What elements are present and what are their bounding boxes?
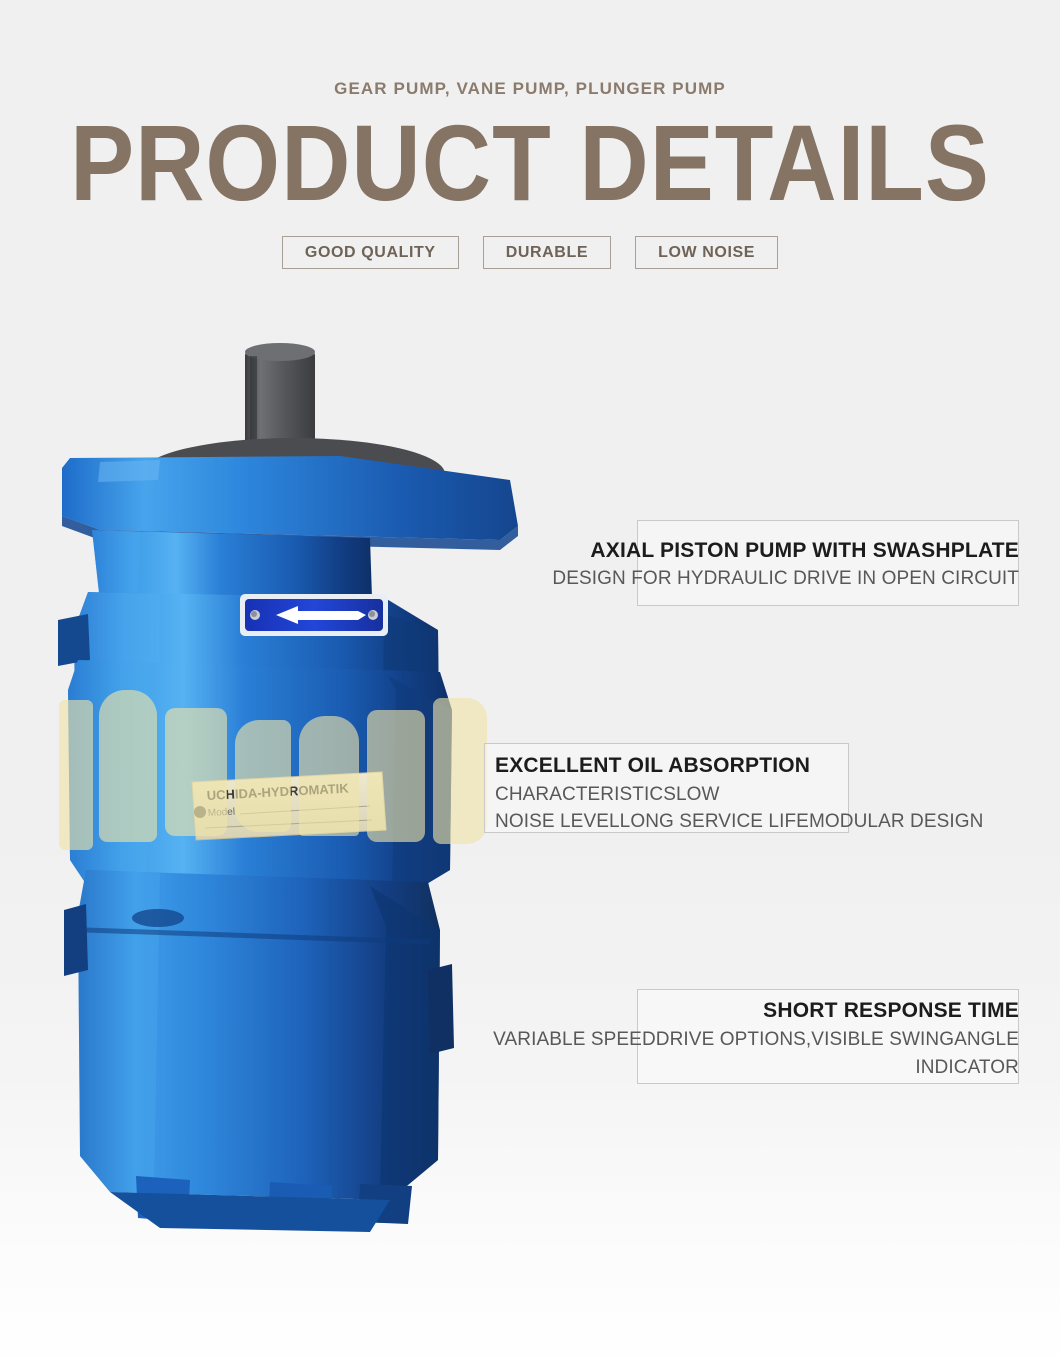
nameplate-model-label: Model [208, 807, 236, 819]
callout-1-text: AXIAL PISTON PUMP WITH SWASHPLATE DESIGN… [540, 537, 1030, 593]
callout-2-line-1: CHARACTERISTICSLOW [495, 781, 1004, 808]
callout-3-line-2: INDICATOR [480, 1054, 1019, 1082]
page-subtitle: GEAR PUMP, VANE PUMP, PLUNGER PUMP [0, 79, 1060, 99]
badge-durable: DURABLE [483, 236, 611, 269]
badge-row: GOOD QUALITY DURABLE LOW NOISE [0, 236, 1060, 269]
callout-2-heading: EXCELLENT OIL ABSORPTION [495, 751, 1004, 781]
product-photo: UCHIDA-HYDROMATIK Model [40, 330, 560, 1260]
pump-lower-body [64, 870, 454, 1200]
flow-direction-plate [240, 594, 388, 636]
callout-3-line-1: VARIABLE SPEEDDRIVE OPTIONS,VISIBLE SWIN… [480, 1026, 1019, 1054]
product-details-page: GEAR PUMP, VANE PUMP, PLUNGER PUMP PRODU… [0, 0, 1060, 1369]
callout-excellent-oil-absorption: EXCELLENT OIL ABSORPTION CHARACTERISTICS… [484, 740, 1004, 845]
callout-1-line-1: DESIGN FOR HYDRAULIC DRIVE IN OPEN CIRCU… [540, 565, 1019, 593]
product-nameplate: UCHIDA-HYDROMATIK Model [192, 772, 386, 840]
callout-axial-piston-pump: AXIAL PISTON PUMP WITH SWASHPLATE DESIGN… [540, 515, 1030, 615]
callout-3-text: SHORT RESPONSE TIME VARIABLE SPEEDDRIVE … [480, 996, 1030, 1082]
page-title: PRODUCT DETAILS [0, 108, 1060, 220]
callout-3-heading: SHORT RESPONSE TIME [480, 996, 1019, 1026]
badge-low-noise: LOW NOISE [635, 236, 778, 269]
callout-2-line-2: NOISE LEVELLONG SERVICE LIFEMODULAR DESI… [495, 808, 1004, 835]
callout-short-response-time: SHORT RESPONSE TIME VARIABLE SPEEDDRIVE … [480, 985, 1030, 1090]
badge-good-quality: GOOD QUALITY [282, 236, 459, 269]
callout-1-heading: AXIAL PISTON PUMP WITH SWASHPLATE [540, 537, 1019, 565]
callout-2-text: EXCELLENT OIL ABSORPTION CHARACTERISTICS… [484, 751, 1004, 835]
